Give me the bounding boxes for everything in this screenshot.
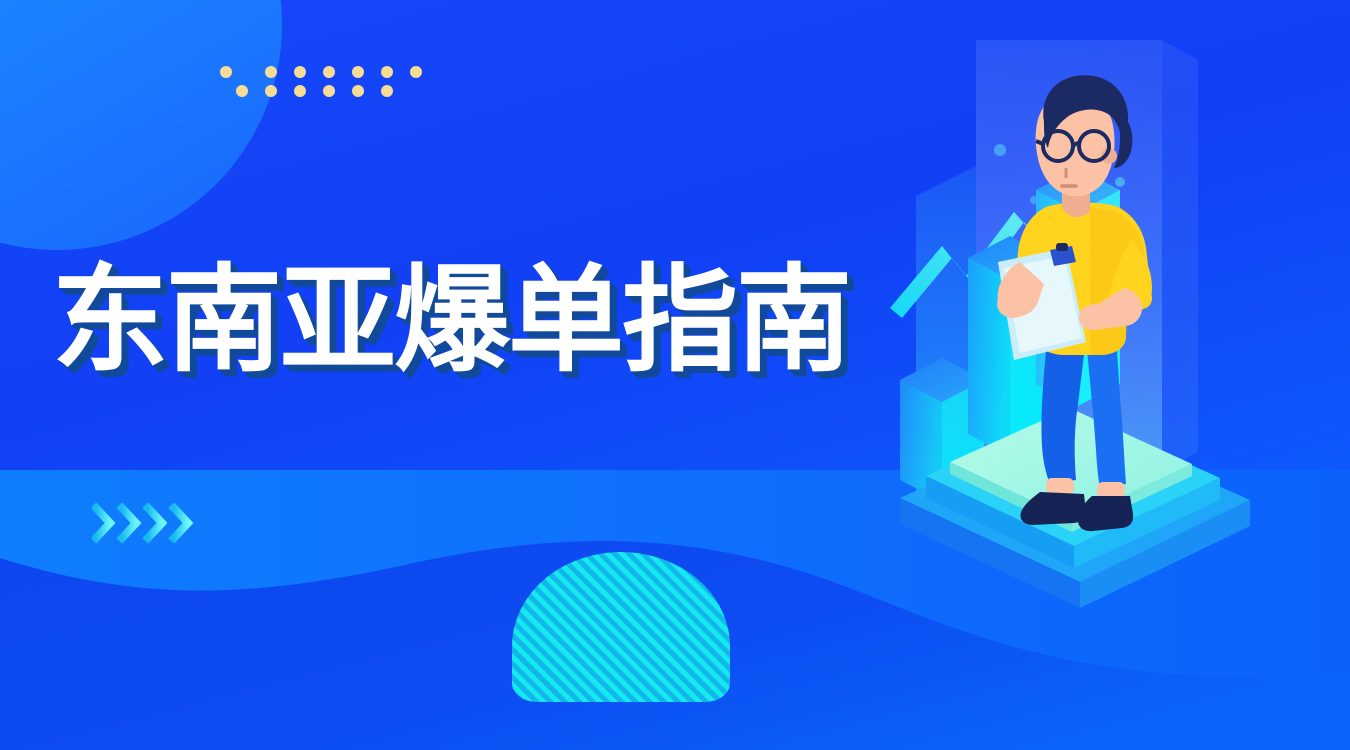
chevron-right-icon [148,508,162,538]
dot [265,66,277,78]
light-blue-circle-decoration [0,0,282,250]
illustration-svg [880,0,1350,750]
page-title: 东南亚爆单指南 [52,262,850,380]
chevron-right-icon [174,508,188,538]
dot [352,85,364,97]
dot [410,66,422,78]
dot [323,66,335,78]
dot [220,66,232,78]
dot [294,85,306,97]
dot [265,85,277,97]
cyan-striped-blob [512,552,730,702]
dot [294,66,306,78]
chevron-right-icon [122,508,136,538]
banner-root: 东南亚爆单指南 [0,0,1350,750]
dot [352,66,364,78]
chevron-right-icon [96,508,110,538]
dot [323,85,335,97]
banner-title-wrapper: 东南亚爆单指南 [52,262,850,380]
yellow-dot-grid [220,60,420,100]
dot [381,66,393,78]
chevron-icon-group [92,500,202,546]
chevron-arrows-decoration [92,500,202,546]
dot [236,85,248,97]
growth-chart-illustration [880,0,1350,750]
dot [381,85,393,97]
